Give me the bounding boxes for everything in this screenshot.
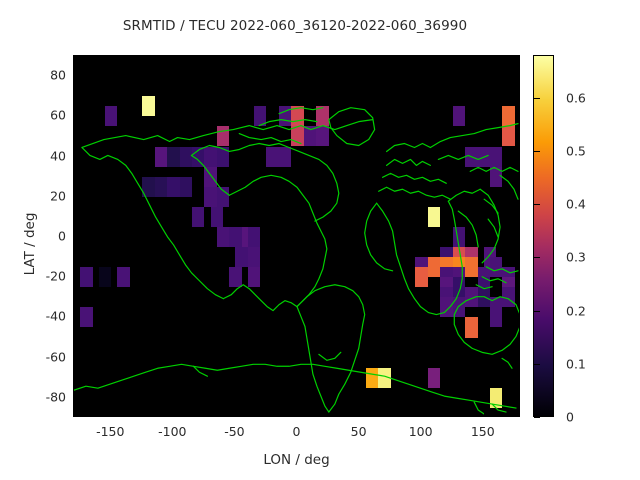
colorbar-tick-label: 0.6 xyxy=(566,90,586,105)
y-axis-tick-label: 0 xyxy=(58,229,66,244)
x-axis-tick-mark xyxy=(298,412,299,417)
y-axis-tick-label: 60 xyxy=(50,108,66,123)
map-plot-area[interactable] xyxy=(73,55,520,417)
y-axis-tick-mark xyxy=(75,116,80,117)
y-axis-tick-label: -60 xyxy=(46,349,66,364)
colorbar-tick-label: 0.3 xyxy=(566,250,586,265)
y-axis-tick-mark xyxy=(75,197,80,198)
y-axis-tick-mark xyxy=(75,277,80,278)
x-axis-tick-label: -100 xyxy=(158,424,186,439)
x-axis-tick-mark xyxy=(173,412,174,417)
x-axis-tick-label: 0 xyxy=(293,424,301,439)
y-axis-tick-mark xyxy=(75,237,80,238)
y-axis-tick-label: -20 xyxy=(46,269,66,284)
figure-root: SRMTID / TECU 2022-060_36120-2022-060_36… xyxy=(0,0,640,480)
colorbar-tick-mark xyxy=(534,98,540,99)
y-axis-tick-label: -80 xyxy=(46,389,66,404)
colorbar-tick-mark xyxy=(534,151,540,152)
x-axis-tick-mark xyxy=(484,412,485,417)
colorbar-tick-label: 0.5 xyxy=(566,143,586,158)
y-axis-tick-label: 20 xyxy=(50,188,66,203)
y-axis-tick-label: -40 xyxy=(46,309,66,324)
colorbar-tick-mark xyxy=(534,204,540,205)
colorbar-tick-label: 0.2 xyxy=(566,303,586,318)
x-axis-tick-label: 150 xyxy=(471,424,495,439)
x-axis-tick-label: -150 xyxy=(96,424,124,439)
y-axis-tick-mark xyxy=(75,76,80,77)
x-axis-tick-mark xyxy=(360,412,361,417)
y-axis-tick-mark xyxy=(75,157,80,158)
x-axis-tick-mark xyxy=(235,412,236,417)
colorbar xyxy=(533,55,554,417)
y-axis-tick-label: 40 xyxy=(50,148,66,163)
x-axis-label: LON / deg xyxy=(73,452,520,468)
y-axis-tick-mark xyxy=(75,398,80,399)
colorbar-tick-mark xyxy=(534,364,540,365)
x-axis-tick-label: 100 xyxy=(409,424,433,439)
colorbar-tick-mark xyxy=(534,417,540,418)
x-axis-tick-mark xyxy=(111,412,112,417)
y-axis-label: LAT / deg xyxy=(22,144,38,344)
colorbar-tick-label: 0 xyxy=(566,410,574,425)
y-axis-tick-mark xyxy=(75,358,80,359)
coastline-layer xyxy=(74,56,519,416)
y-axis-tick-mark xyxy=(75,317,80,318)
colorbar-tick-mark xyxy=(534,311,540,312)
x-axis-tick-label: 50 xyxy=(351,424,367,439)
colorbar-tick-label: 0.1 xyxy=(566,356,586,371)
colorbar-tick-label: 0.4 xyxy=(566,197,586,212)
page-title: SRMTID / TECU 2022-060_36120-2022-060_36… xyxy=(0,18,590,34)
x-axis-tick-mark xyxy=(422,412,423,417)
colorbar-tick-mark xyxy=(534,257,540,258)
y-axis-tick-label: 80 xyxy=(50,68,66,83)
x-axis-tick-label: -50 xyxy=(224,424,244,439)
